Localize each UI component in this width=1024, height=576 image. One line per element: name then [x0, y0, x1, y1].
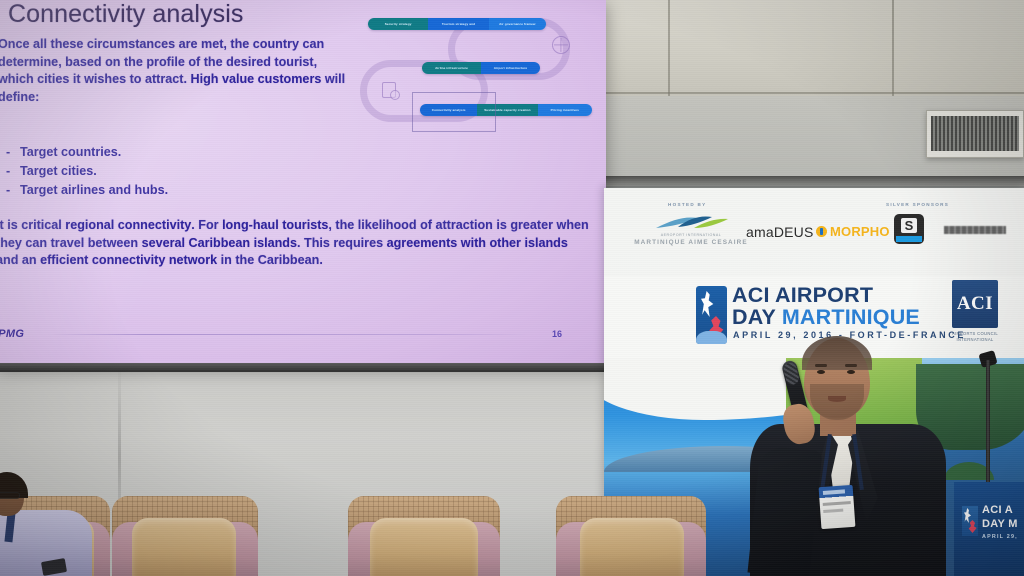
roadmap-segment: Airline infrastructure [422, 62, 481, 74]
bullet-text: Target cities. [20, 164, 97, 178]
bullet-marker: - [6, 181, 20, 200]
projection-screen-bottom-edge [0, 363, 606, 372]
aci-event-mark-icon [696, 286, 727, 344]
roadmap-row-2: Airline infrastructure Airport infrastru… [422, 62, 540, 74]
speaker-person [744, 338, 974, 576]
sponsor-logo-wordmark [944, 226, 1006, 234]
badge-header-bar [823, 489, 845, 495]
list-item: -Target airlines and hubs. [6, 181, 306, 200]
slide-body-paragraph: It is critical regional connectivity. Fo… [0, 217, 592, 270]
bullet-marker: - [6, 143, 20, 162]
bullet-text: Target countries. [20, 145, 121, 159]
bird-icon [701, 291, 715, 317]
intro-highlight: High value customers [190, 72, 321, 86]
event-title: ACI AIRPORT DAY MARTINIQUE [732, 284, 920, 328]
roadmap-segment: Air governance framew [489, 18, 546, 30]
speaker-arm [747, 445, 822, 576]
wall-seam [892, 0, 894, 96]
document-icon [382, 82, 396, 98]
event-title-line2-light: MARTINIQUE [782, 305, 920, 329]
aci-organization-logo: ACI [952, 280, 998, 328]
roadmap-segment: Tourism strategy and [428, 18, 488, 30]
sponsor-logo-morpho: MORPHO [816, 224, 890, 239]
roadmap-diagram: Security strategy Tourism strategy and A… [362, 4, 594, 130]
wicker-chair [556, 496, 706, 576]
silver-sponsors-label: SILVER SPONSORS [886, 202, 949, 207]
morpho-label: MORPHO [830, 224, 890, 239]
slide-bullet-list: -Target countries. -Target cities. -Targ… [6, 143, 306, 200]
slide-page-number: 16 [552, 329, 562, 339]
host-airport-logo: AEROPORT INTERNATIONAL MARTINIQUE AIME C… [628, 212, 754, 252]
speaker-hair [802, 336, 872, 370]
speaker-brow-left [815, 364, 827, 367]
sponsor-logo-amadeus: amaDEUS [746, 224, 814, 240]
body-part-2: . For [191, 218, 222, 232]
projected-slide: Connectivity analysis Once all these cir… [0, 0, 606, 364]
wicker-chair [112, 496, 258, 576]
roadmap-segment: Pricing incentives [538, 104, 592, 116]
microphone-grille [782, 362, 800, 386]
bullet-text: Target airlines and hubs. [20, 183, 168, 197]
morpho-mark-icon [816, 226, 827, 237]
room-wall-upper [600, 0, 1024, 96]
roadmap-segment: Airport infrastructure [481, 62, 540, 74]
sponsor-logo-square: S [894, 214, 924, 244]
sign-line-3: APRIL 29, [982, 534, 1018, 540]
globe-icon [552, 36, 570, 54]
badge-name-line [823, 501, 851, 506]
body-highlight-4: agreements with other islands [387, 236, 568, 250]
swoosh-icon [654, 214, 730, 232]
event-title-line1: ACI AIRPORT [732, 283, 873, 307]
aci-logo-text: ACI [952, 280, 998, 328]
body-highlight-5: efficient connectivity network [40, 253, 217, 267]
slide-footer-divider [48, 334, 528, 335]
vent-grille [931, 116, 1019, 151]
wall-shadow-strip [600, 176, 1024, 188]
chair-seat-cushion [370, 518, 478, 576]
list-item: -Target countries. [6, 143, 306, 162]
roadmap-segment: Security strategy [368, 18, 428, 30]
wall-seam [668, 0, 670, 96]
wicker-chair [348, 496, 500, 576]
sponsor-glyph-icon: S [901, 218, 917, 233]
body-part-4: . This requires [297, 236, 387, 250]
body-highlight-3: several Caribbean islands [142, 236, 297, 250]
hosted-by-label: HOSTED BY [668, 202, 707, 207]
body-part-1: It is critical [0, 218, 65, 232]
sign-line-2: DAY M [982, 518, 1018, 530]
sponsor-accent-bar [896, 236, 922, 242]
roadmap-highlight-box [412, 92, 496, 132]
air-conditioning-vent [926, 110, 1024, 158]
wave-icon [696, 331, 727, 344]
body-part-5: and an [0, 253, 40, 267]
list-item: -Target cities. [6, 162, 306, 181]
body-highlight-2: long-haul tourists [222, 218, 328, 232]
host-logo-name: MARTINIQUE AIME CESAIRE [628, 239, 754, 246]
host-logo-subtitle: AEROPORT INTERNATIONAL [628, 233, 754, 237]
bullet-marker: - [6, 162, 20, 181]
chair-seat-cushion [132, 518, 236, 576]
wall-seam [600, 92, 1024, 94]
speaker-mouth [828, 396, 846, 402]
event-title-line2-dark: DAY [732, 305, 782, 329]
sign-line-1: ACI A [982, 504, 1013, 516]
speaker-eye-right [847, 370, 855, 374]
chair-seat-cushion [580, 518, 684, 576]
badge-org-line [823, 509, 843, 513]
slide-title: Connectivity analysis [8, 0, 244, 29]
body-highlight-1: regional connectivity [65, 218, 191, 232]
body-part-6: in the Caribbean. [217, 253, 323, 267]
speaker-eye-left [817, 370, 825, 374]
seated-attendee [0, 476, 104, 576]
roadmap-row-1: Security strategy Tourism strategy and A… [368, 18, 546, 30]
slide-intro-paragraph: Once all these circumstances are met, th… [0, 36, 346, 106]
conference-room-scene: Connectivity analysis Once all these cir… [0, 0, 1024, 576]
kpmg-logo: KPMG [0, 328, 24, 340]
attendee-glasses [0, 492, 20, 499]
name-badge [819, 485, 856, 529]
speaker-brow-right [845, 364, 857, 367]
